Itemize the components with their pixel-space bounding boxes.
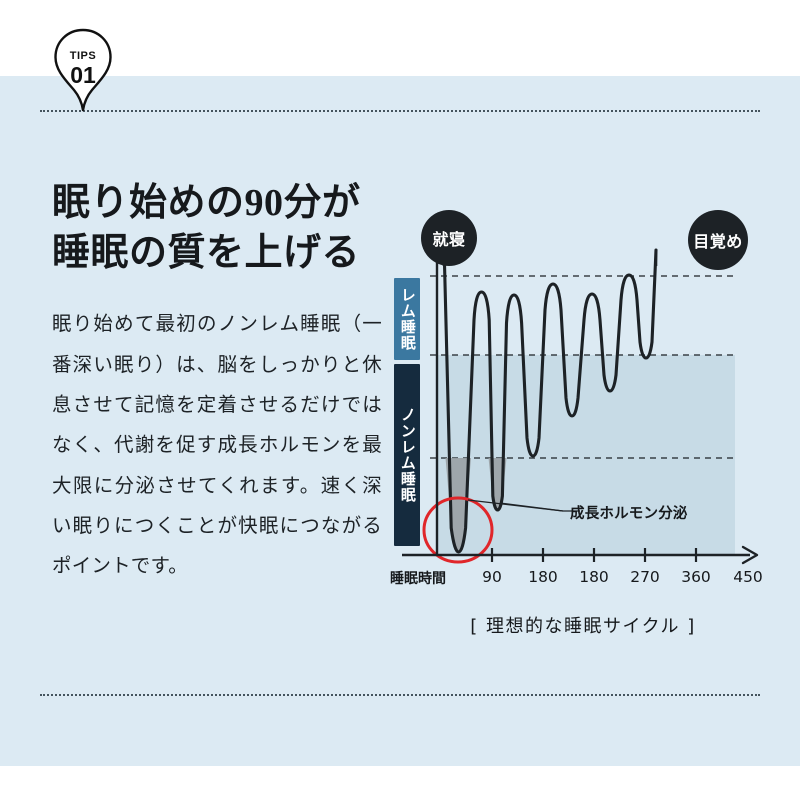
tips-number: 01 — [52, 62, 114, 89]
page-root: TIPS 01 眠り始めの90分が 睡眠の質を上げる 眠り始めて最初のノンレム睡… — [0, 0, 800, 800]
x-tick-label-1: 90 — [482, 568, 502, 586]
chart-caption: [ 理想的な睡眠サイクル ] — [388, 612, 778, 638]
article-column: 眠り始めの90分が 睡眠の質を上げる 眠り始めて最初のノンレム睡眠（一番深い眠り… — [52, 178, 382, 587]
divider-bottom — [40, 694, 760, 696]
divider-top — [40, 110, 760, 112]
x-axis-title: 睡眠時間 — [390, 568, 446, 588]
tips-label: TIPS — [52, 50, 114, 62]
sleep-cycle-chart: レム睡眠 ノンレム睡眠 就寝 目覚め 成長ホルモン分泌 睡眠時間 90 180 … — [388, 200, 778, 660]
page-title: 眠り始めの90分が 睡眠の質を上げる — [52, 178, 382, 278]
marker-bedtime: 就寝 — [421, 210, 477, 266]
annotation-growth-hormone: 成長ホルモン分泌 — [570, 502, 688, 523]
x-axis-labels: 睡眠時間 90 180 180 270 360 450 — [388, 568, 778, 592]
axis-category-rem: レム睡眠 — [394, 278, 420, 360]
x-tick-label-3: 180 — [579, 568, 609, 586]
x-tick-label-2: 180 — [528, 568, 558, 586]
x-tick-label-5: 360 — [681, 568, 711, 586]
x-tick-label-4: 270 — [630, 568, 660, 586]
tips-pin-badge: TIPS 01 — [52, 28, 114, 112]
axis-category-non-rem: ノンレム睡眠 — [394, 364, 420, 546]
marker-wakeup: 目覚め — [688, 210, 748, 270]
headline-line-1: 眠り始めの90分が — [52, 178, 382, 228]
deep-sleep-band — [437, 355, 735, 555]
headline-line-2: 睡眠の質を上げる — [52, 228, 382, 278]
x-tick-label-6: 450 — [733, 568, 763, 586]
article-body: 眠り始めて最初のノンレム睡眠（一番深い眠り）は、脳をしっかりと休息させて記憶を定… — [52, 304, 382, 587]
